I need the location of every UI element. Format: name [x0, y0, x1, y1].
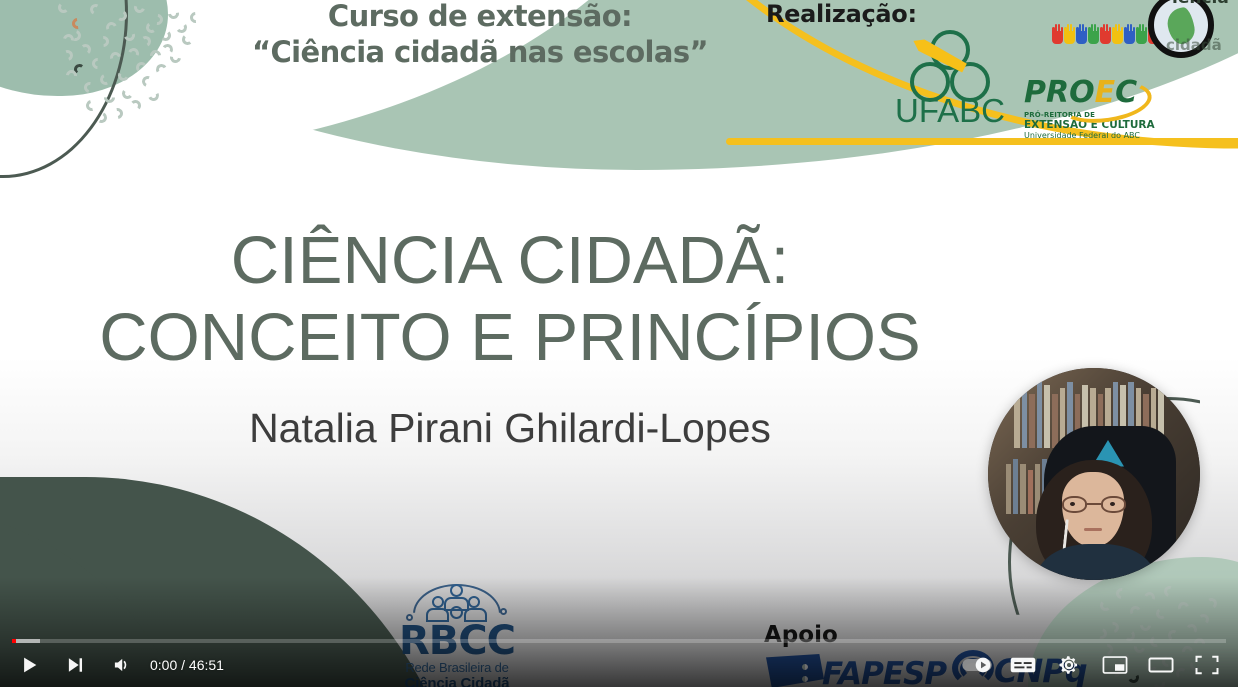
- volume-button[interactable]: [98, 643, 144, 687]
- rbcc-people-network-icon: [392, 582, 522, 622]
- player-controls-right: [954, 643, 1238, 687]
- proec-logo: PROEC PRÓ-REITORIA DE EXTENSÃO E CULTURA…: [1024, 78, 1156, 150]
- hand-icon-5: [1100, 22, 1111, 44]
- next-video-button[interactable]: [52, 643, 98, 687]
- main-title-line2: CONCEITO E PRINCÍPIOS: [0, 299, 1020, 376]
- hand-icon-2: [1064, 22, 1075, 44]
- hand-icon-3: [1076, 22, 1087, 44]
- globe-text-bottom: cidadã: [1166, 36, 1222, 54]
- time-display: 0:00 / 46:51: [144, 657, 234, 673]
- ciencia-cidada-globe-logo: iência cidadã: [1148, 0, 1214, 58]
- settings-gear-icon[interactable]: [1046, 643, 1092, 687]
- proec-wordmark-e: E: [1095, 75, 1116, 110]
- course-title: Curso de extensão: “Ciência cidadã nas e…: [250, 0, 710, 71]
- ufabc-logo: UFABC: [892, 30, 1008, 135]
- proec-wordmark-c: C: [1115, 75, 1137, 110]
- hand-icon-6: [1112, 22, 1123, 44]
- slide-main-title: CIÊNCIA CIDADÃ: CONCEITO E PRINCÍPIOS: [0, 222, 1020, 376]
- colored-hands-icon: [1052, 22, 1159, 44]
- autoplay-toggle[interactable]: [954, 643, 1000, 687]
- proec-wordmark: PROEC: [1024, 78, 1156, 108]
- captions-button[interactable]: [1000, 643, 1046, 687]
- main-title-line1: CIÊNCIA CIDADÃ:: [0, 222, 1020, 299]
- miniplayer-button[interactable]: [1092, 643, 1138, 687]
- hand-icon-8: [1136, 22, 1147, 44]
- player-controls-bar: 0:00 / 46:51: [0, 643, 1238, 687]
- speaker-name: Natalia Pirani Ghilardi-Lopes: [0, 405, 1020, 452]
- video-player-stage: Curso de extensão: “Ciência cidadã nas e…: [0, 0, 1238, 687]
- fullscreen-button[interactable]: [1184, 643, 1230, 687]
- globe-text-top: iência: [1172, 0, 1229, 8]
- play-button[interactable]: [6, 643, 52, 687]
- proec-wordmark-o: O: [1069, 75, 1095, 110]
- proec-wordmark-pr: PR: [1024, 75, 1069, 110]
- proec-sub3: Universidade Federal do ABC: [1024, 131, 1156, 140]
- ufabc-wordmark: UFABC: [890, 92, 1010, 130]
- hand-icon-4: [1088, 22, 1099, 44]
- hand-icon-7: [1124, 22, 1135, 44]
- yellow-swoosh-tail: [726, 138, 1238, 145]
- hand-icon-1: [1052, 22, 1063, 44]
- course-title-line2: “Ciência cidadã nas escolas”: [250, 34, 710, 70]
- theater-mode-button[interactable]: [1138, 643, 1184, 687]
- course-title-line1: Curso de extensão:: [250, 0, 710, 34]
- presenter-webcam-overlay: [988, 368, 1200, 580]
- realizacao-label: Realização:: [766, 0, 917, 28]
- player-controls-left: 0:00 / 46:51: [0, 643, 234, 687]
